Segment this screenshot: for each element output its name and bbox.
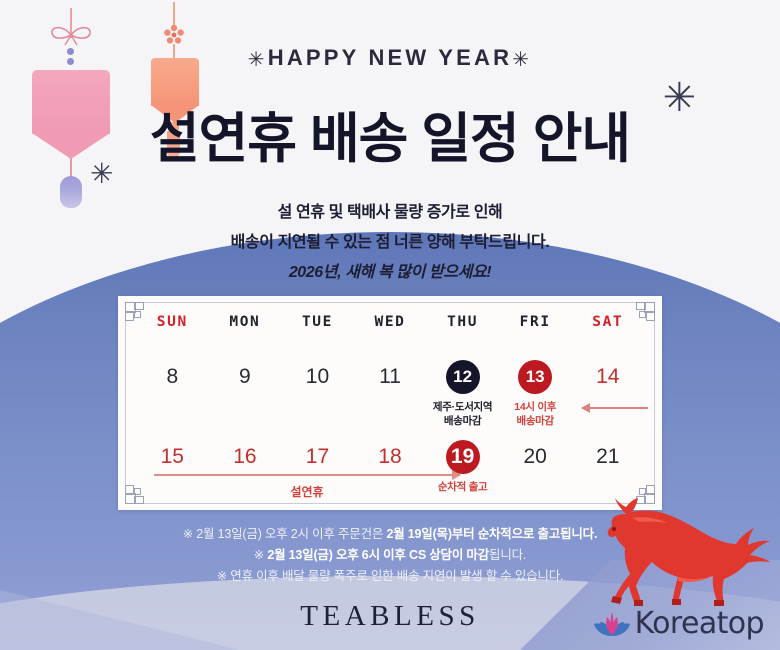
footer-note-line: ※ 2월 13일(금) 오후 2시 이후 주문건은 2월 19일(목)부터 순차…	[0, 524, 780, 545]
calendar-day-number: 12	[446, 360, 480, 394]
poster-root: ✳HAPPY NEW YEAR✳ 설연휴 배송 일정 안내 ✳ ✳ 설 연휴 및…	[0, 0, 780, 650]
calendar-day-cell: 20	[499, 440, 572, 494]
weekday-label: TUE	[281, 314, 354, 330]
calendar-day-number: 9	[209, 360, 282, 394]
holiday-range-arrow-icon	[154, 470, 460, 480]
delivery-calendar-card: SUNMONTUEWEDTHUFRISAT 89101112제주·도서지역배송마…	[118, 296, 662, 510]
calendar-day-number: 15	[136, 440, 209, 474]
calendar-day-number: 16	[209, 440, 282, 474]
calendar-weekday-cell: FRI	[499, 314, 572, 330]
calendar-day-note: 제주·도서지역배송마감	[426, 400, 499, 428]
sparkle-icon: ✳	[90, 160, 113, 188]
calendar-day-number: 11	[354, 360, 427, 394]
calendar-day-number: 8	[136, 360, 209, 394]
calendar-day-cell: 10	[281, 360, 354, 428]
asterisk-icon: ✳	[512, 49, 532, 71]
weekday-label: SAT	[571, 314, 644, 330]
koreatop-logo[interactable]: Koreatop	[593, 606, 764, 641]
calendar-day-number: 17	[281, 440, 354, 474]
calendar-day-cell: 11	[354, 360, 427, 428]
footer-note-line: ※ 연휴 이후 배달 물량 폭주로 인한 배송 지연이 발생 할 수 있습니다.	[0, 566, 780, 587]
lantern-bow-icon	[48, 24, 94, 46]
calendar-weekday-cell: MON	[209, 314, 282, 330]
calendar-day-number: 19	[446, 440, 480, 474]
subtitle-line-1: 설 연휴 및 택배사 물량 증가로 인해	[0, 198, 780, 222]
calendar-day-number: 20	[499, 440, 572, 474]
lotus-icon	[593, 609, 631, 639]
footer-note-line: ※ 2월 13일(금) 오후 6시 이후 CS 상담이 마감됩니다.	[0, 545, 780, 566]
subtitle-line-3: 2026년, 새해 복 많이 받으세요!	[0, 258, 780, 282]
calendar-day-cell: 8	[136, 360, 209, 428]
calendar-weekday-cell: SAT	[571, 314, 644, 330]
eyebrow-happy-new-year: ✳HAPPY NEW YEAR✳	[0, 45, 780, 72]
subtitle-line-2: 배송이 지연될 수 있는 점 너른 양해 부탁드립니다.	[0, 228, 780, 252]
holiday-range-label: 설연휴	[154, 483, 460, 500]
calendar-day-cell: 1314시 이후배송마감	[499, 360, 572, 428]
weekday-label: MON	[209, 314, 282, 330]
lantern-flower-icon	[163, 24, 185, 46]
weekday-label: WED	[354, 314, 427, 330]
calendar-day-number: 13	[518, 360, 552, 394]
calendar-day-cell: 21	[571, 440, 644, 494]
calendar-day-number: 18	[354, 440, 427, 474]
calendar-day-cell: 14	[571, 360, 644, 428]
calendar-day-cell: 9	[209, 360, 282, 428]
calendar-day-number: 10	[281, 360, 354, 394]
weekday-label: THU	[426, 314, 499, 330]
calendar-day-note: 14시 이후배송마감	[499, 400, 572, 428]
calendar-day-number: 21	[571, 440, 644, 474]
koreatop-wordmark: Koreatop	[635, 606, 764, 641]
calendar-weekday-cell: WED	[354, 314, 427, 330]
calendar-week-row: 89101112제주·도서지역배송마감1314시 이후배송마감14	[136, 360, 644, 428]
calendar-weekday-cell: SUN	[136, 314, 209, 330]
calendar-day-number: 14	[571, 360, 644, 394]
saturday-pointer-arrow-icon	[582, 403, 648, 413]
calendar-weekday-cell: TUE	[281, 314, 354, 330]
footer-notes: ※ 2월 13일(금) 오후 2시 이후 주문건은 2월 19일(목)부터 순차…	[0, 524, 780, 587]
weekday-label: SUN	[136, 314, 209, 330]
calendar-weekday-header: SUNMONTUEWEDTHUFRISAT	[136, 314, 644, 330]
calendar-grid: SUNMONTUEWEDTHUFRISAT 89101112제주·도서지역배송마…	[136, 314, 644, 494]
asterisk-icon: ✳	[248, 49, 268, 71]
calendar-day-cell: 12제주·도서지역배송마감	[426, 360, 499, 428]
weekday-label: FRI	[499, 314, 572, 330]
calendar-weekday-cell: THU	[426, 314, 499, 330]
sparkle-icon: ✳	[662, 78, 696, 118]
eyebrow-text: HAPPY NEW YEAR	[268, 45, 512, 70]
